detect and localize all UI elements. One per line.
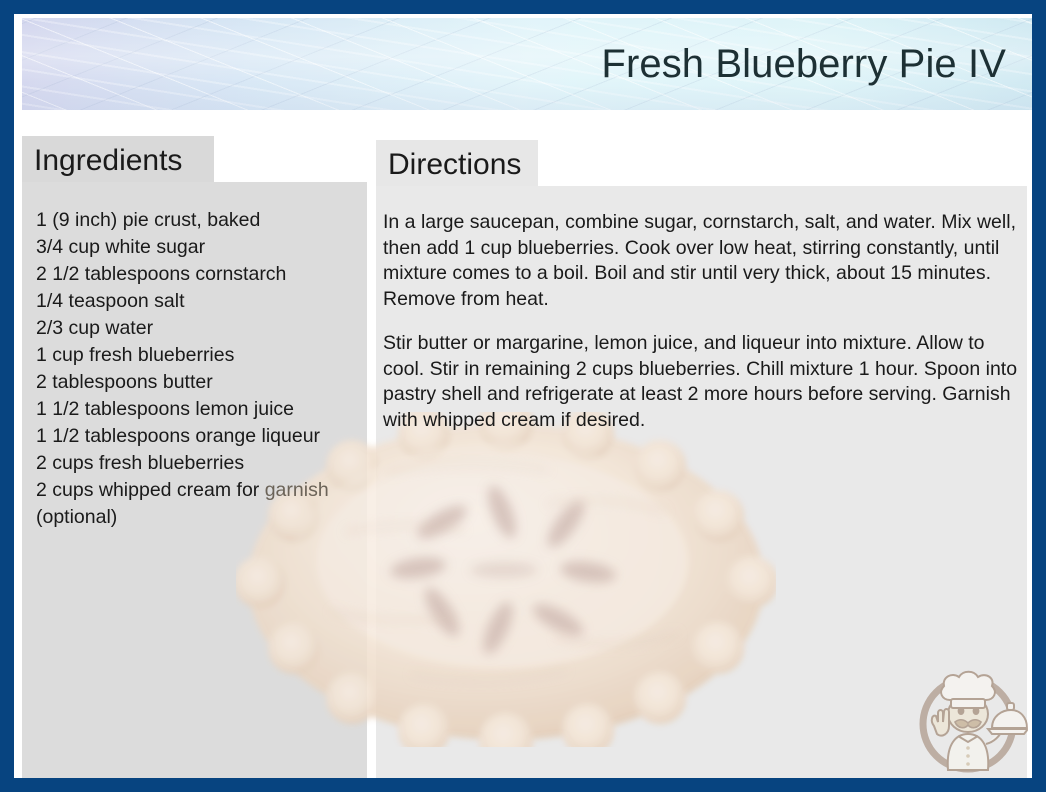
- list-item: 2 tablespoons butter: [36, 369, 371, 396]
- list-item: 1 (9 inch) pie crust, baked: [36, 207, 371, 234]
- list-item: 1 1/2 tablespoons orange liqueur: [36, 423, 371, 450]
- list-item: 2 cups whipped cream for garnish: [36, 477, 371, 504]
- ingredient-text: 2 1/2 tablespoons cornstarch: [36, 263, 286, 285]
- list-item: 1 1/2 tablespoons lemon juice: [36, 396, 371, 423]
- list-item: 2/3 cup water: [36, 315, 371, 342]
- ingredient-text: 2 cups fresh blueberries: [36, 452, 244, 474]
- list-item: (optional): [36, 504, 371, 531]
- ingredient-text: (optional): [36, 506, 117, 528]
- ingredient-text: 1 (9 inch) pie crust, baked: [36, 209, 260, 231]
- header-banner: Fresh Blueberry Pie IV: [22, 18, 1032, 110]
- directions-paragraph: Stir butter or margarine, lemon juice, a…: [383, 331, 1028, 433]
- ingredients-heading-tab: Ingredients: [22, 136, 214, 182]
- recipe-card-page: Fresh Blueberry Pie IV Ingredients Direc…: [0, 0, 1046, 792]
- ingredient-text: 1/4 teaspoon salt: [36, 290, 185, 312]
- directions-heading-label: Directions: [388, 148, 521, 182]
- list-item: 1/4 teaspoon salt: [36, 288, 371, 315]
- ingredient-text: 3/4 cup white sugar: [36, 236, 205, 258]
- list-item: 2 cups fresh blueberries: [36, 450, 371, 477]
- ingredient-text: 1 1/2 tablespoons orange liqueur: [36, 425, 320, 447]
- ingredients-list: 1 (9 inch) pie crust, baked 3/4 cup whit…: [36, 207, 371, 531]
- list-item: 3/4 cup white sugar: [36, 234, 371, 261]
- list-item: 2 1/2 tablespoons cornstarch: [36, 261, 371, 288]
- ingredient-text: 2 cups whipped cream for: [36, 479, 265, 501]
- ingredients-heading-label: Ingredients: [34, 144, 182, 178]
- directions-paragraph: In a large saucepan, combine sugar, corn…: [383, 210, 1028, 312]
- directions-text: In a large saucepan, combine sugar, corn…: [383, 210, 1028, 433]
- ingredient-garnish-text: garnish: [265, 479, 329, 501]
- ingredient-text: 1 1/2 tablespoons lemon juice: [36, 398, 294, 420]
- page-title: Fresh Blueberry Pie IV: [601, 43, 1006, 85]
- ingredient-text: 1 cup fresh blueberries: [36, 344, 234, 366]
- ingredient-text: 2 tablespoons butter: [36, 371, 213, 393]
- ingredient-text: 2/3 cup water: [36, 317, 153, 339]
- recipe-card: Fresh Blueberry Pie IV Ingredients Direc…: [14, 14, 1032, 778]
- list-item: 1 cup fresh blueberries: [36, 342, 371, 369]
- directions-heading-tab: Directions: [376, 140, 538, 186]
